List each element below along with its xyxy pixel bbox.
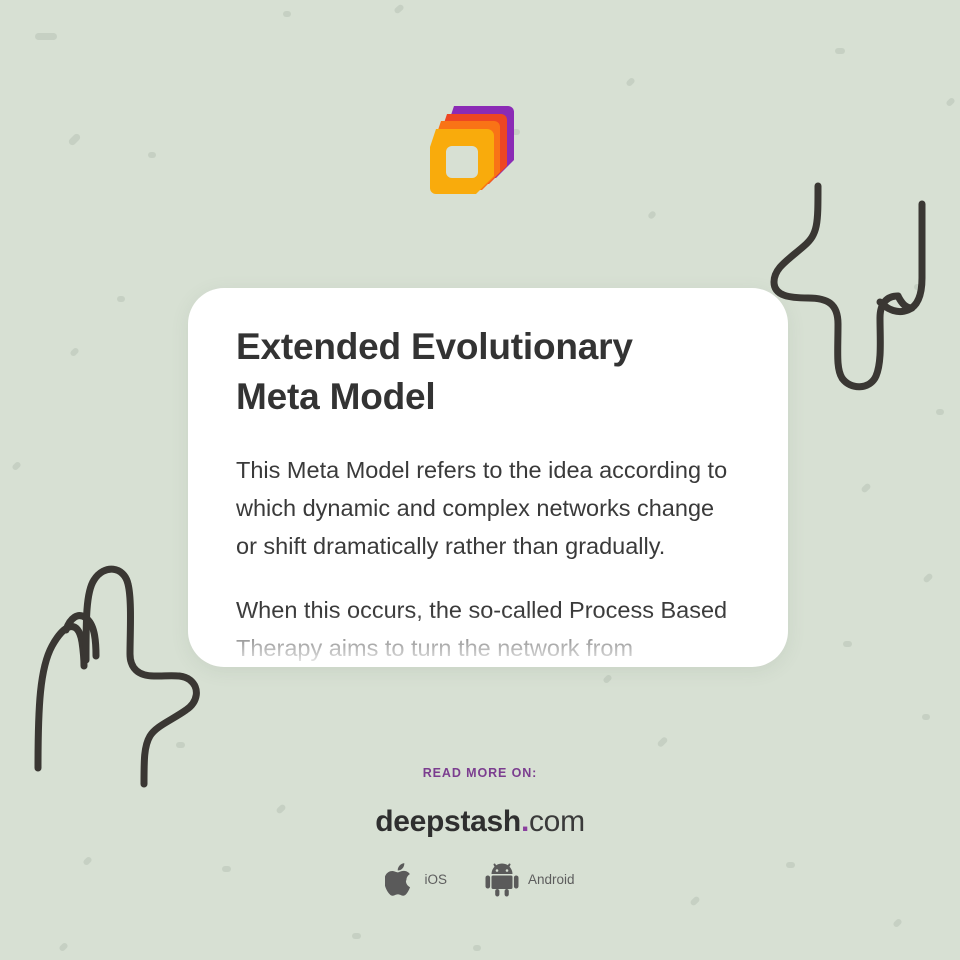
confetti-speck — [647, 210, 657, 220]
confetti-speck — [602, 674, 613, 685]
store-badge-ios[interactable]: iOS — [385, 861, 447, 897]
confetti-speck — [35, 33, 57, 40]
confetti-speck — [117, 296, 125, 302]
confetti-speck — [58, 942, 69, 953]
logo-cutout — [446, 146, 478, 178]
confetti-speck — [892, 918, 903, 929]
deepstash-logo — [430, 104, 516, 196]
confetti-speck — [176, 742, 185, 748]
brand-wordmark[interactable]: deepstash.com — [0, 805, 960, 839]
confetti-speck — [922, 572, 933, 583]
confetti-speck — [283, 11, 291, 17]
stash-card[interactable]: Extended Evolutionary Meta Model This Me… — [188, 288, 788, 667]
brand-tld: com — [529, 805, 585, 838]
confetti-speck — [922, 714, 930, 720]
confetti-speck — [473, 945, 481, 951]
store-label-android: Android — [528, 872, 575, 887]
confetti-speck — [914, 284, 922, 290]
store-badges: iOS Android — [0, 861, 960, 897]
brand-name: deepstash — [375, 805, 521, 838]
confetti-speck — [689, 895, 700, 906]
store-badge-android[interactable]: Android — [485, 861, 575, 897]
confetti-speck — [625, 77, 636, 88]
confetti-speck — [352, 933, 361, 939]
stash-card-content: Extended Evolutionary Meta Model This Me… — [188, 288, 788, 667]
card-paragraph-1: This Meta Model refers to the idea accor… — [236, 451, 740, 565]
brand-dot: . — [521, 805, 529, 838]
confetti-speck — [393, 3, 405, 14]
confetti-speck — [936, 409, 944, 415]
confetti-speck — [148, 152, 156, 158]
poster-canvas: Extended Evolutionary Meta Model This Me… — [0, 0, 960, 960]
confetti-speck — [843, 641, 852, 647]
apple-icon — [385, 861, 415, 897]
confetti-speck — [11, 461, 22, 472]
android-icon — [485, 861, 519, 897]
confetti-speck — [945, 97, 956, 108]
confetti-speck — [656, 736, 668, 748]
confetti-speck — [67, 132, 81, 146]
read-more-label: READ MORE ON: — [0, 766, 960, 780]
confetti-speck — [860, 482, 871, 493]
footer: READ MORE ON: deepstash.com iOS — [0, 766, 960, 897]
store-label-ios: iOS — [424, 872, 447, 887]
confetti-speck — [835, 48, 845, 54]
card-title: Extended Evolutionary Meta Model — [236, 322, 706, 421]
confetti-speck — [69, 347, 80, 358]
card-paragraph-2: When this occurs, the so-called Process … — [236, 591, 740, 667]
